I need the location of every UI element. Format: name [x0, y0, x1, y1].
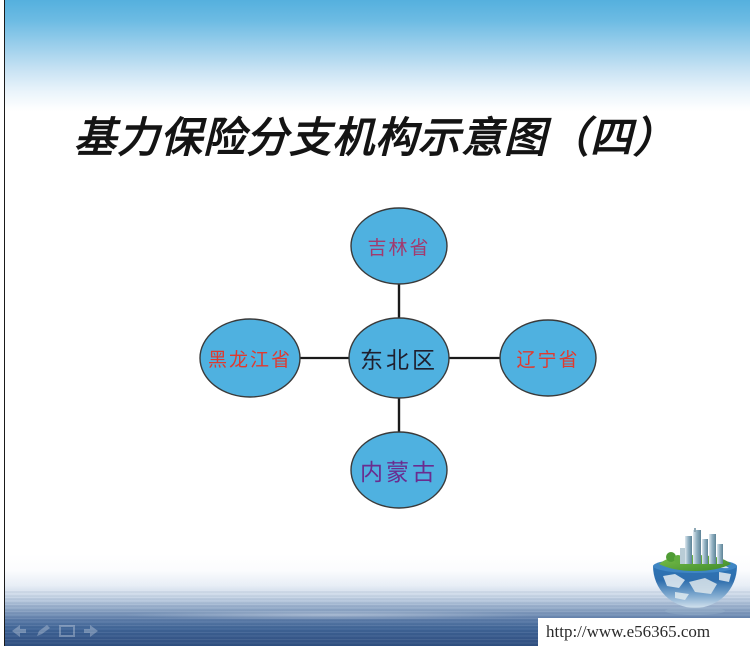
- arrow-right-icon[interactable]: [82, 623, 102, 639]
- presentation-slide: 基力保险分支机构示意图（四） 吉林省 黑龙江省 东北区 辽宁省 内蒙古: [0, 0, 750, 646]
- url-watermark-band: http://www.e56365.com: [538, 618, 750, 646]
- arrow-left-icon[interactable]: [8, 623, 28, 639]
- node-ellipse-liaoning[interactable]: [500, 320, 596, 396]
- diagram-canvas: [180, 196, 610, 516]
- node-ellipse-heilongjiang[interactable]: [200, 319, 300, 397]
- globe-city-logo: [645, 528, 745, 616]
- logo-reflection: [665, 607, 725, 615]
- pen-icon[interactable]: [34, 623, 52, 639]
- slideshow-nav-toolbar[interactable]: [8, 620, 120, 642]
- organization-diagram: 吉林省 黑龙江省 东北区 辽宁省 内蒙古: [180, 196, 610, 516]
- slide-title: 基力保险分支机构示意图（四）: [0, 104, 750, 165]
- node-ellipse-center[interactable]: [349, 318, 449, 398]
- box-icon[interactable]: [58, 623, 76, 639]
- slide-left-border: [4, 0, 5, 646]
- watermark-url: http://www.e56365.com: [538, 622, 710, 642]
- node-ellipse-jilin[interactable]: [351, 208, 447, 284]
- sky-gradient-background: [5, 0, 750, 112]
- node-ellipse-neimenggu[interactable]: [351, 432, 447, 508]
- ocean-highlight: [120, 610, 540, 620]
